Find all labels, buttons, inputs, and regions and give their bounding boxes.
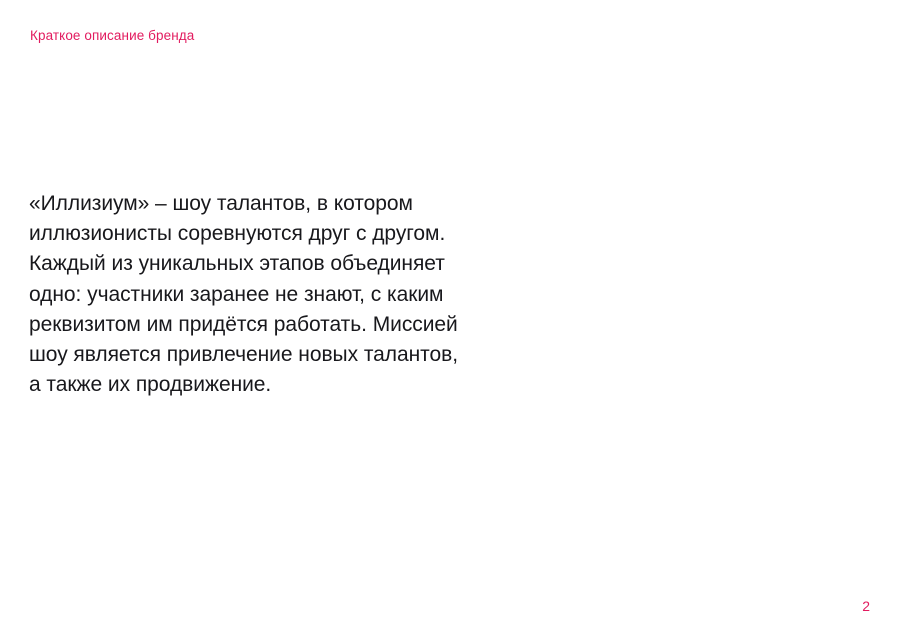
body-line: одно: участники заранее не знают, с каки… (29, 280, 589, 310)
body-line: Каждый из уникальных этапов объединяет (29, 249, 589, 279)
body-line: а также их продвижение. (29, 370, 589, 400)
body-line: «Иллизиум» – шоу талантов, в котором (29, 189, 589, 219)
slide-section-label: Краткое описание бренда (30, 27, 194, 45)
slide-page: Краткое описание бренда «Иллизиум» – шоу… (0, 0, 900, 636)
body-line: реквизитом им придётся работать. Миссией (29, 310, 589, 340)
body-line: шоу является привлечение новых талантов, (29, 340, 589, 370)
body-line: иллюзионисты соревнуются друг с другом. (29, 219, 589, 249)
slide-body-text: «Иллизиум» – шоу талантов, в котором илл… (29, 189, 589, 400)
page-number: 2 (862, 598, 870, 614)
